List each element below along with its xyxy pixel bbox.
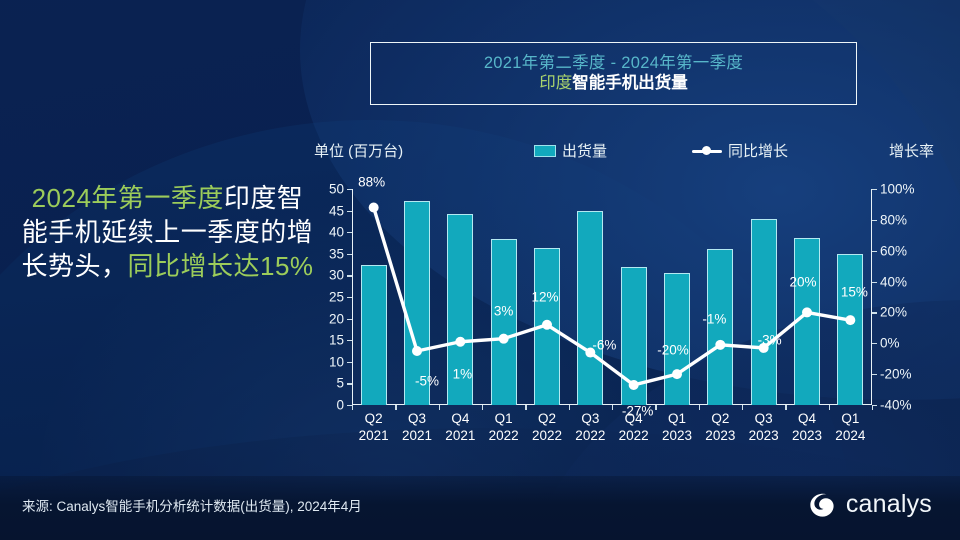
- legend-line-swatch-icon: [692, 145, 722, 157]
- y-tick-right: [872, 312, 877, 313]
- y-label-right: 80%: [880, 212, 940, 227]
- data-label-Q1-2022: 3%: [494, 303, 514, 318]
- x-label-quarter: Q2: [532, 411, 562, 428]
- y-label-right: 20%: [880, 305, 940, 320]
- y-label-left: 40: [298, 225, 344, 240]
- line-marker-Q3-2021[interactable]: [412, 346, 422, 356]
- y-label-left: 15: [298, 333, 344, 348]
- canalys-swirl-icon: [806, 489, 837, 520]
- chart-title-box: 2021年第二季度 - 2024年第一季度 印度智能手机出货量: [370, 42, 857, 105]
- line-marker-Q2-2023[interactable]: [715, 340, 725, 350]
- x-label-quarter: Q1: [835, 411, 865, 428]
- x-label-Q4-2023: Q42023: [792, 411, 822, 445]
- x-label-Q3-2023: Q32023: [749, 411, 779, 445]
- legend-bar-label: 出货量: [562, 140, 607, 161]
- callout-segment-1: 2024年第一季度: [32, 183, 224, 213]
- x-label-Q4-2021: Q42021: [445, 411, 475, 445]
- right-axis-title: 增长率: [889, 140, 934, 161]
- x-tick: [352, 405, 353, 410]
- title-subject-rest: 智能手机出货量: [572, 74, 688, 92]
- title-subject: 印度智能手机出货量: [539, 74, 688, 93]
- data-label-Q2-2023: -1%: [702, 311, 726, 326]
- unit-label: 单位 (百万台): [314, 140, 403, 161]
- y-label-right: -40%: [880, 398, 940, 413]
- x-label-quarter: Q3: [575, 411, 605, 428]
- x-label-year: 2022: [489, 428, 519, 445]
- x-tick: [569, 405, 570, 410]
- x-label-quarter: Q3: [749, 411, 779, 428]
- callout-segment-3: 同比增长达15%: [127, 251, 313, 281]
- y-tick-right: [872, 343, 877, 344]
- x-label-quarter: Q2: [359, 411, 389, 428]
- x-tick: [439, 405, 440, 410]
- x-label-year: 2021: [445, 428, 475, 445]
- y-label-left: 50: [298, 182, 344, 197]
- legend-bar-swatch-icon: [534, 145, 556, 157]
- y-tick-right: [872, 189, 877, 190]
- line-marker-Q4-2023[interactable]: [802, 307, 812, 317]
- y-label-left: 0: [298, 398, 344, 413]
- y-label-left: 45: [298, 203, 344, 218]
- title-period: 2021年第二季度 - 2024年第一季度: [484, 54, 743, 73]
- x-label-Q1-2022: Q12022: [489, 411, 519, 445]
- y-label-right: -20%: [880, 367, 940, 382]
- x-label-quarter: Q2: [705, 411, 735, 428]
- y-label-right: 100%: [880, 182, 940, 197]
- x-label-Q2-2023: Q22023: [705, 411, 735, 445]
- x-label-quarter: Q4: [792, 411, 822, 428]
- y-label-left: 5: [298, 376, 344, 391]
- y-label-right: 40%: [880, 274, 940, 289]
- x-tick: [612, 405, 613, 410]
- x-label-year: 2022: [532, 428, 562, 445]
- data-label-Q1-2023: -20%: [657, 343, 689, 358]
- x-label-quarter: Q4: [619, 411, 649, 428]
- line-marker-Q2-2022[interactable]: [542, 320, 552, 330]
- x-label-year: 2021: [402, 428, 432, 445]
- line-marker-Q4-2021[interactable]: [455, 337, 465, 347]
- x-label-year: 2023: [749, 428, 779, 445]
- legend-line-label: 同比增长: [728, 140, 788, 161]
- x-tick: [395, 405, 396, 410]
- line-marker-Q2-2021[interactable]: [369, 203, 379, 213]
- y-tick-right: [872, 220, 877, 221]
- line-marker-Q1-2022[interactable]: [499, 334, 509, 344]
- x-tick: [829, 405, 830, 410]
- y-label-left: 30: [298, 268, 344, 283]
- chart-plot-area: 05101520253035404550 -40%-20%0%20%40%60%…: [352, 189, 872, 405]
- x-label-year: 2021: [359, 428, 389, 445]
- data-label-Q1-2024: 15%: [841, 285, 868, 300]
- data-label-Q2-2021: 88%: [358, 174, 385, 189]
- x-label-quarter: Q3: [402, 411, 432, 428]
- x-tick: [785, 405, 786, 410]
- x-label-year: 2023: [792, 428, 822, 445]
- x-label-Q3-2021: Q32021: [402, 411, 432, 445]
- x-label-quarter: Q1: [662, 411, 692, 428]
- x-label-Q1-2024: Q12024: [835, 411, 865, 445]
- legend-item-shipments[interactable]: 出货量: [534, 140, 607, 161]
- y-tick-right: [872, 374, 877, 375]
- growth-line: [374, 208, 851, 385]
- x-label-Q2-2022: Q22022: [532, 411, 562, 445]
- y-tick-right: [872, 251, 877, 252]
- x-tick: [872, 405, 873, 410]
- line-marker-Q1-2024[interactable]: [845, 315, 855, 325]
- data-label-Q3-2021: -5%: [415, 374, 439, 389]
- x-label-year: 2022: [619, 428, 649, 445]
- data-label-Q4-2021: 1%: [453, 366, 473, 381]
- callout-text: 2024年第一季度印度智能手机延续上一季度的增长势头，同比增长达15%: [20, 182, 315, 283]
- legend-item-growth[interactable]: 同比增长: [692, 140, 788, 161]
- data-label-Q2-2022: 12%: [531, 289, 558, 304]
- x-label-quarter: Q4: [445, 411, 475, 428]
- x-label-Q4-2022: Q42022: [619, 411, 649, 445]
- line-marker-Q1-2023[interactable]: [672, 369, 682, 379]
- x-tick: [655, 405, 656, 410]
- line-marker-Q4-2022[interactable]: [629, 380, 639, 390]
- title-subject-region: 印度: [539, 74, 572, 92]
- x-label-Q3-2022: Q32022: [575, 411, 605, 445]
- x-tick: [699, 405, 700, 410]
- source-note: 来源: Canalys智能手机分析统计数据(出货量), 2024年4月: [22, 495, 362, 515]
- x-tick: [742, 405, 743, 410]
- y-label-left: 35: [298, 246, 344, 261]
- canalys-logo: canalys: [806, 489, 932, 520]
- data-label-Q3-2023: -3%: [758, 332, 782, 347]
- x-label-year: 2024: [835, 428, 865, 445]
- y-label-right: 60%: [880, 243, 940, 258]
- x-label-year: 2022: [575, 428, 605, 445]
- y-label-right: 0%: [880, 336, 940, 351]
- x-label-quarter: Q1: [489, 411, 519, 428]
- data-label-Q4-2023: 20%: [789, 275, 816, 290]
- x-label-year: 2023: [705, 428, 735, 445]
- data-label-Q3-2022: -6%: [592, 337, 616, 352]
- canalys-wordmark: canalys: [846, 490, 932, 519]
- x-tick: [482, 405, 483, 410]
- y-label-left: 10: [298, 354, 344, 369]
- slide-canvas: 2021年第二季度 - 2024年第一季度 印度智能手机出货量 2024年第一季…: [0, 0, 960, 540]
- x-label-Q2-2021: Q22021: [359, 411, 389, 445]
- y-tick-right: [872, 282, 877, 283]
- y-label-left: 25: [298, 290, 344, 305]
- x-label-Q1-2023: Q12023: [662, 411, 692, 445]
- y-label-left: 20: [298, 311, 344, 326]
- x-label-year: 2023: [662, 428, 692, 445]
- chart-header: 单位 (百万台) 出货量 同比增长 增长率: [300, 138, 940, 164]
- x-tick: [525, 405, 526, 410]
